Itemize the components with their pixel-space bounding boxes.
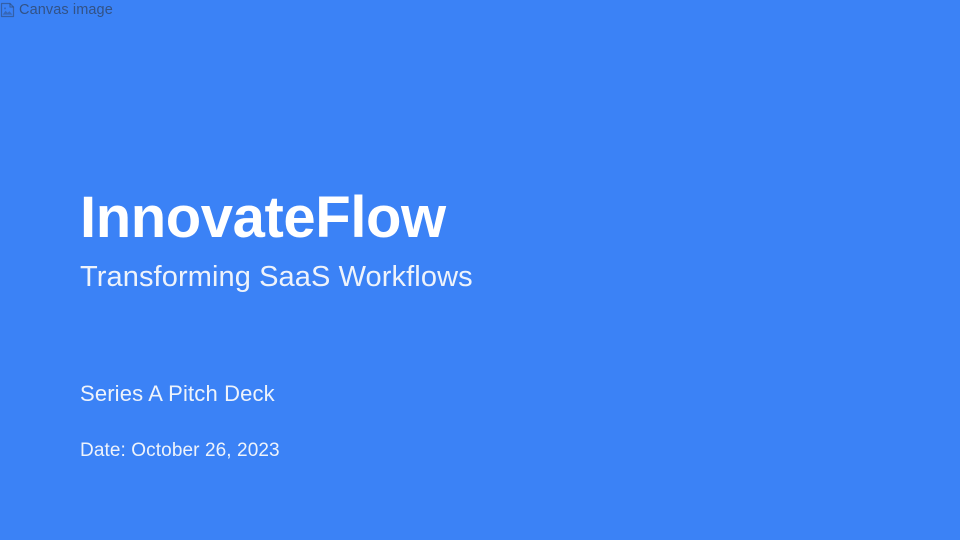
slide-canvas: Canvas image InnovateFlow Transforming S… (0, 0, 960, 540)
deck-date-label: Date: October 26, 2023 (80, 439, 280, 463)
slide-text-block: InnovateFlow Transforming SaaS Workflows… (80, 0, 880, 540)
page-subtitle: Transforming SaaS Workflows (80, 259, 473, 295)
deck-stage-label: Series A Pitch Deck (80, 380, 275, 408)
page-title: InnovateFlow (80, 183, 446, 253)
broken-image-icon (0, 2, 16, 18)
